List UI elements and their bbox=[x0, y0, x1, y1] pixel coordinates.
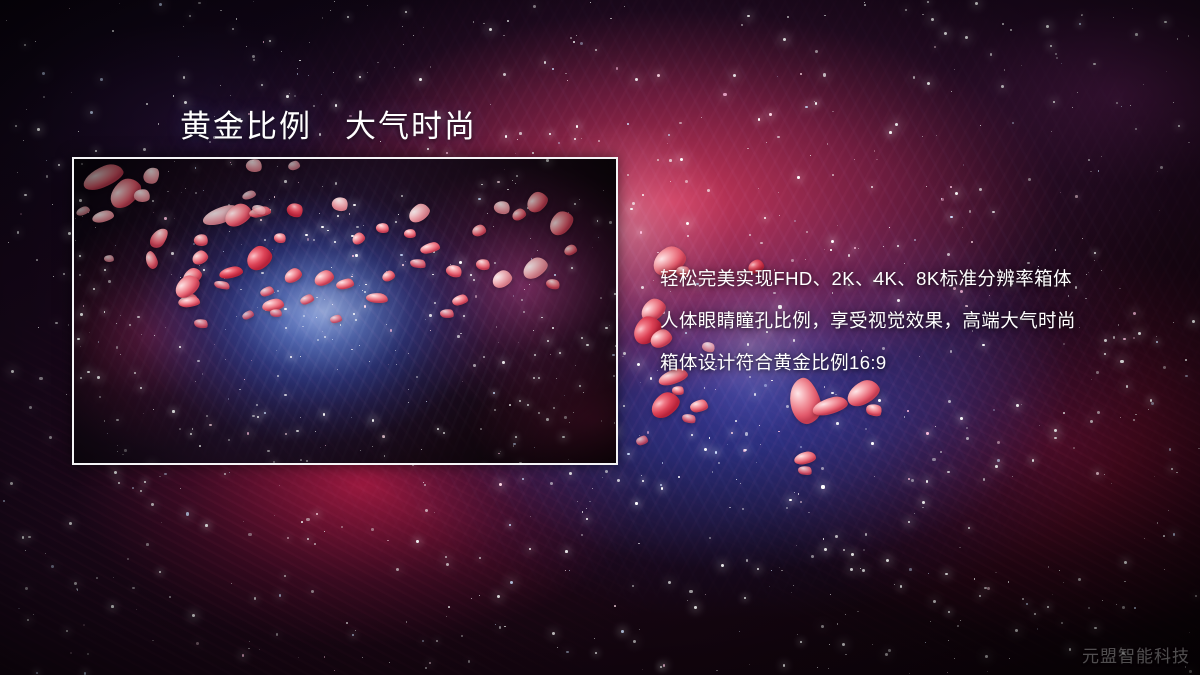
presentation-slide: 黄金比例 大气时尚 轻松完美实现FHD、2K、4K、8K标准分辨率箱体 人体眼睛… bbox=[0, 0, 1200, 675]
watermark: 元盟智能科技 bbox=[1082, 642, 1190, 667]
body-line-1: 轻松完美实现FHD、2K、4K、8K标准分辨率箱体 bbox=[660, 258, 1160, 300]
picture-vignette bbox=[74, 159, 616, 463]
body-line-2: 人体眼睛瞳孔比例，享受视觉效果，高端大气时尚 bbox=[660, 300, 1160, 342]
body-line-3: 箱体设计符合黄金比例16:9 bbox=[660, 342, 1160, 384]
slide-title: 黄金比例 大气时尚 bbox=[180, 101, 477, 146]
body-text-block: 轻松完美实现FHD、2K、4K、8K标准分辨率箱体 人体眼睛瞳孔比例，享受视觉效… bbox=[660, 258, 1160, 384]
framed-picture bbox=[72, 157, 618, 465]
